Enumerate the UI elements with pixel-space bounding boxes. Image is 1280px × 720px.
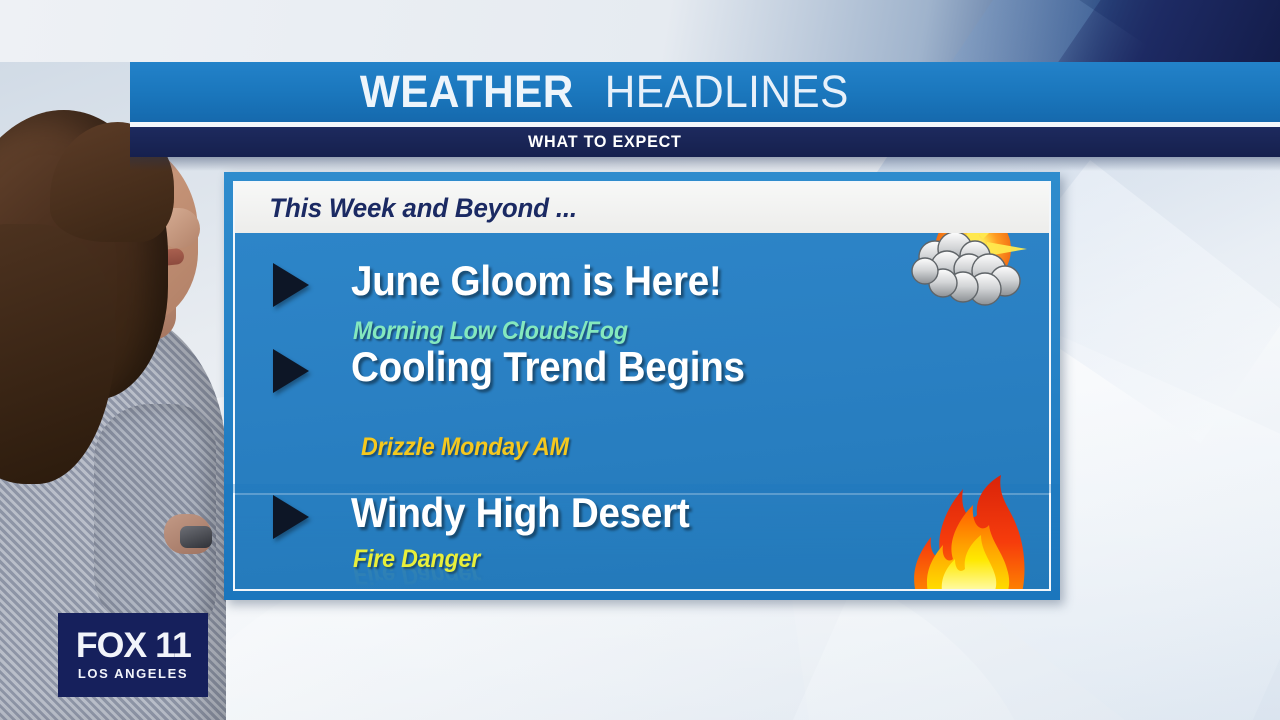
header-dropshadow [130, 157, 1280, 171]
panel-title-bar: This Week and Beyond ... [235, 183, 1049, 233]
fox-11-logo: FOX 11 LOS ANGELES [58, 613, 208, 697]
headline-sub-3: Fire Danger [353, 545, 480, 574]
logo-sub-text: LOS ANGELES [78, 666, 188, 682]
headline-text-3: Windy High Desert [351, 491, 689, 535]
header-title: WEATHER HEADLINES [130, 62, 1280, 122]
weather-broadcast-screen: WEATHER HEADLINES WHAT TO EXPECT This We… [0, 0, 1280, 720]
headline-row-1: June Gloom is Here! [273, 263, 754, 307]
header-subtitle-bar: WHAT TO EXPECT [130, 127, 1280, 157]
header-banner: WEATHER HEADLINES [130, 62, 1280, 122]
logo-main-text: FOX 11 [76, 628, 191, 664]
panel-body: June Gloom is Here! Morning Low Clouds/F… [235, 233, 1049, 589]
headline-text-1: June Gloom is Here! [351, 259, 722, 303]
headline-sub-1: Morning Low Clouds/Fog [353, 317, 628, 346]
headline-sub-2: Drizzle Monday AM [361, 433, 569, 462]
panel-title: This Week and Beyond ... [269, 193, 576, 224]
fire-flame-icon [905, 475, 1035, 589]
headline-text-2: Cooling Trend Begins [351, 345, 745, 389]
triangle-right-icon [273, 263, 309, 307]
triangle-right-icon [273, 495, 309, 539]
panel-inner: This Week and Beyond ... [233, 181, 1051, 591]
header-subtitle: WHAT TO EXPECT [528, 132, 682, 152]
sun-behind-cloud-icon [901, 233, 1041, 319]
header-title-strong: WEATHER [360, 66, 574, 118]
headlines-panel: This Week and Beyond ... [224, 172, 1060, 600]
header-title-light: HEADLINES [605, 66, 849, 118]
presenter-clicker-remote [180, 526, 212, 548]
headline-row-2: Cooling Trend Begins [273, 349, 779, 393]
triangle-right-icon [273, 349, 309, 393]
headline-row-3: Windy High Desert [273, 495, 719, 539]
